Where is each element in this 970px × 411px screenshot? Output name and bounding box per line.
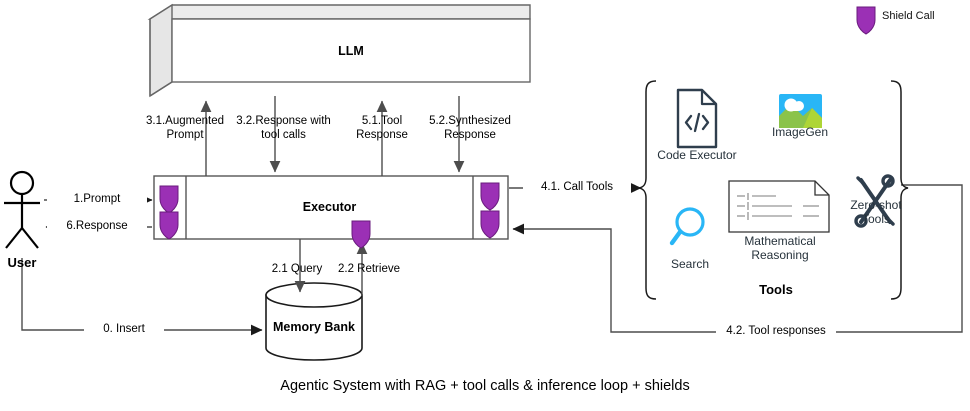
shield-icon-executor-in-response <box>160 212 178 239</box>
tool-label-mathematical-reasoning: Mathematical Reasoning <box>734 234 826 262</box>
edge-label-synthesized-response: 5.2.Synthesized Response <box>424 115 516 142</box>
user-label: User <box>0 255 52 270</box>
tool-label-image-gen: ImageGen <box>740 125 860 139</box>
shield-icon-executor-in-prompt <box>160 186 178 213</box>
executor-label: Executor <box>186 200 473 214</box>
diagram-caption: Agentic System with RAG + tool calls & i… <box>0 378 970 394</box>
edge-label-tool-responses: 4.2. Tool responses <box>716 325 836 339</box>
magnifier-icon <box>672 209 703 243</box>
tools-right-brace <box>891 81 908 299</box>
user-actor <box>4 172 40 248</box>
tool-label-code-executor: Code Executor <box>637 148 757 162</box>
shield-icon-legend <box>857 7 875 34</box>
diagram-canvas: LLM Executor Memory Bank User Tools 3.1.… <box>0 0 970 411</box>
shield-icon-memory-retrieve <box>352 221 370 248</box>
edge-insert <box>22 258 262 330</box>
edge-label-query: 2.1 Query <box>262 263 332 277</box>
formula-document-icon <box>729 181 829 232</box>
tool-label-zero-shot-tools: Zero-shot Tools <box>838 198 914 226</box>
edge-label-retrieve: 2.2 Retrieve <box>330 263 408 277</box>
tool-label-search: Search <box>650 257 730 271</box>
edge-label-augmented-prompt: 3.1.Augmented Prompt <box>139 115 231 142</box>
edge-label-insert: 0. Insert <box>84 323 164 337</box>
code-document-icon <box>678 90 716 147</box>
edge-label-tool-response: 5.1.Tool Response <box>342 115 422 142</box>
shield-icon-executor-out-resp <box>481 211 499 238</box>
llm-label: LLM <box>172 44 530 58</box>
edge-label-prompt: 1.Prompt <box>47 193 147 207</box>
shield-icon-executor-out-call <box>481 183 499 210</box>
legend-shield-label: Shield Call <box>882 10 935 22</box>
memory-bank-label: Memory Bank <box>254 320 374 334</box>
tools-group-label: Tools <box>706 282 846 297</box>
edge-label-response-with-tool-calls: 3.2.Response with tool calls <box>235 115 332 142</box>
edge-label-response: 6.Response <box>47 220 147 234</box>
edge-label-call-tools: 4.1. Call Tools <box>523 181 631 195</box>
image-icon <box>779 94 822 128</box>
